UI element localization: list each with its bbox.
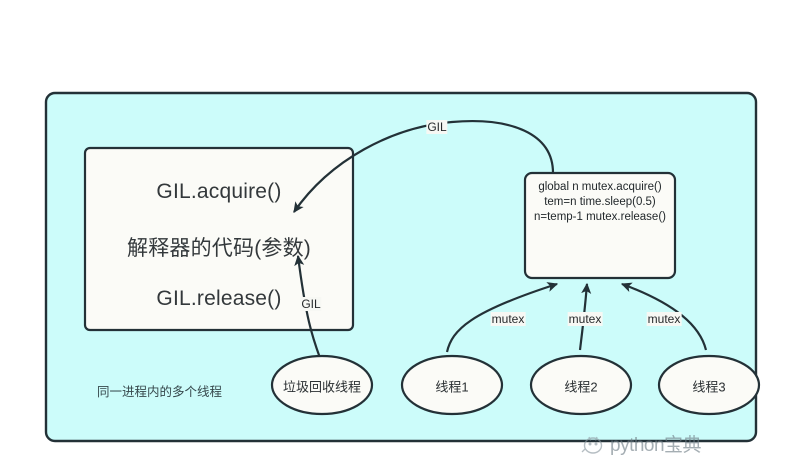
python-mascot-icon — [580, 433, 606, 455]
edge-label-gil-gc: GIL — [300, 297, 321, 311]
thread-3-label: 线程3 — [692, 377, 725, 396]
code-box-text: global n mutex.acquire() tem=n time.slee… — [527, 180, 673, 226]
edge-label-mutex-3: mutex — [647, 312, 682, 326]
thread-2-label: 线程2 — [564, 377, 597, 396]
diagram-page: GIL.acquire() 解释器的代码(参数) GIL.release() g… — [0, 0, 802, 475]
gc-thread-label: 垃圾回收线程 — [283, 377, 361, 396]
edge-label-gil-top: GIL — [426, 120, 447, 134]
process-container-caption: 同一进程内的多个线程 — [97, 381, 222, 400]
edge-label-mutex-2: mutex — [568, 312, 603, 326]
interpreter-line-acquire: GIL.acquire() — [85, 180, 353, 204]
interpreter-line-code: 解释器的代码(参数) — [85, 232, 353, 262]
thread-1-label: 线程1 — [435, 377, 468, 396]
edge-label-mutex-1: mutex — [491, 312, 526, 326]
watermark: python宝典 — [580, 430, 701, 457]
watermark-text: python宝典 — [610, 430, 701, 457]
